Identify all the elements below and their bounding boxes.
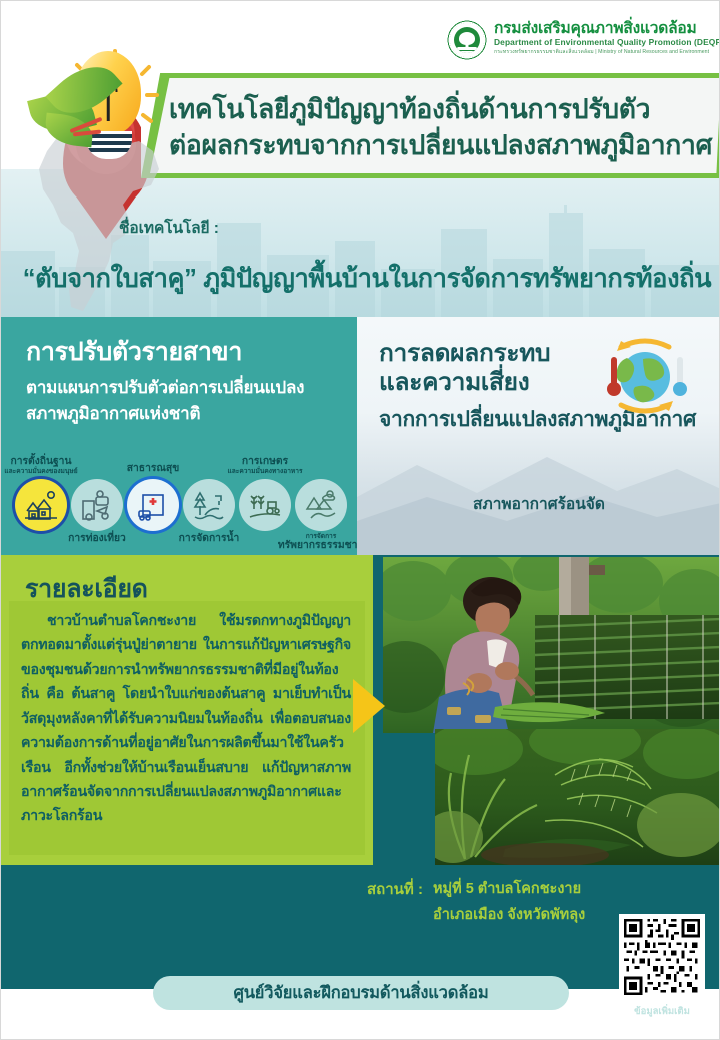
sector-label-public-health: สาธารณสุข bbox=[92, 463, 214, 475]
footer-organization-pill[interactable]: ศูนย์วิจัยและฝึกอบรมด้านสิ่งแวดล้อม bbox=[153, 976, 569, 1010]
org-ministry: กระทรวงทรัพยากรธรรมชาติและสิ่งแวดล้อม | … bbox=[494, 49, 720, 57]
qr-code-graphic bbox=[624, 919, 700, 995]
main-title-line-1: เทคโนโลยีภูมิปัญญาท้องถิ่นด้านการปรับตัว bbox=[169, 92, 695, 127]
details-body: ชาวบ้านตำบลโคกชะงาย ใช้มรดกทางภูมิปัญญาต… bbox=[21, 609, 351, 829]
main-title-line-2: ต่อผลกระทบจากการเปลี่ยนแปลงสภาพภูมิอากาศ bbox=[169, 128, 695, 163]
technology-label: ชื่อเทคโนโลยี : bbox=[119, 215, 219, 240]
public-health-hospital-icon bbox=[127, 479, 179, 531]
globe-thermometer-icon bbox=[591, 335, 699, 419]
settlement-houses-icon bbox=[15, 479, 67, 531]
sector-icon-row: การตั้งถิ่นฐาน และความมั่นคงของมนุษย์ bbox=[1, 453, 357, 555]
arrow-right-icon bbox=[353, 679, 385, 733]
technology-name: “ตับจากใบสาคู” ภูมิปัญญาพื้นบ้านในการจัด… bbox=[17, 259, 717, 299]
sector-label-agriculture: การเกษตร และความมั่นคงทางอาหาร bbox=[204, 456, 326, 475]
location-label: สถานที่ : bbox=[367, 877, 423, 901]
sector-item-settlement[interactable]: การตั้งถิ่นฐาน และความมั่นคงของมนุษย์ bbox=[15, 479, 67, 531]
qr-code[interactable] bbox=[619, 914, 705, 1000]
sector-item-public-health[interactable]: สาธารณสุข bbox=[127, 479, 179, 531]
mitigation-note: สภาพอากาศร้อนจัด bbox=[357, 491, 720, 516]
sector-label-tourism: การท่องเที่ยว bbox=[36, 533, 158, 545]
sector-panel-subtitle-2: สภาพภูมิอากาศแห่งชาติ bbox=[26, 401, 347, 427]
deqp-seal-icon bbox=[447, 20, 487, 60]
footer-organization-label: ศูนย์วิจัยและฝึกอบรมด้านสิ่งแวดล้อม bbox=[233, 980, 488, 1006]
poster-root: กรมส่งเสริมคุณภาพสิ่งแวดล้อม Department … bbox=[0, 0, 720, 1040]
sector-panel-subtitle-1: ตามแผนการปรับตัวต่อการเปลี่ยนแปลง bbox=[26, 375, 347, 401]
org-name-en: Department of Environmental Quality Prom… bbox=[494, 37, 720, 48]
qr-caption: ข้อมูลเพิ่มเติม bbox=[619, 1004, 705, 1019]
main-title-banner: เทคโนโลยีภูมิปัญญาท้องถิ่นด้านการปรับตัว… bbox=[141, 73, 720, 178]
sector-item-tourism[interactable]: การท่องเที่ยว bbox=[71, 479, 123, 531]
water-management-icon bbox=[183, 479, 235, 531]
deqp-logo: กรมส่งเสริมคุณภาพสิ่งแวดล้อม Department … bbox=[447, 19, 709, 71]
sector-panel-title: การปรับตัวรายสาขา bbox=[26, 339, 345, 365]
mitigation-title-line-2: และความเสี่ยง bbox=[379, 368, 550, 397]
details-heading: รายละเอียด bbox=[25, 569, 148, 609]
sector-label-water: การจัดการน้ำ bbox=[148, 533, 270, 545]
tourism-icon bbox=[71, 479, 123, 531]
sector-label-settlement: การตั้งถิ่นฐาน และความมั่นคงของมนุษย์ bbox=[0, 456, 102, 475]
location-line-1: หมู่ที่ 5 ตำบลโคกชะงาย bbox=[433, 877, 581, 900]
photo-sago-palm-grove bbox=[435, 729, 720, 865]
sector-item-natural-resources[interactable]: การจัดการ ทรัพยากรธรรมชาติ bbox=[295, 479, 347, 531]
agriculture-icon bbox=[239, 479, 291, 531]
natural-resources-icon bbox=[295, 479, 347, 531]
location-line-2: อำเภอเมือง จังหวัดพัทลุง bbox=[433, 903, 585, 926]
photo-weaving-sago-roof bbox=[383, 557, 720, 733]
mitigation-title-line-1: การลดผลกระทบ bbox=[379, 339, 550, 368]
mitigation-panel: การลดผลกระทบ และความเสี่ยง จากการเปลี่ยน… bbox=[357, 317, 720, 555]
sector-item-water[interactable]: การจัดการน้ำ bbox=[183, 479, 235, 531]
sector-item-agriculture[interactable]: การเกษตร และความมั่นคงทางอาหาร bbox=[239, 479, 291, 531]
org-name-th: กรมส่งเสริมคุณภาพสิ่งแวดล้อม bbox=[494, 20, 720, 37]
